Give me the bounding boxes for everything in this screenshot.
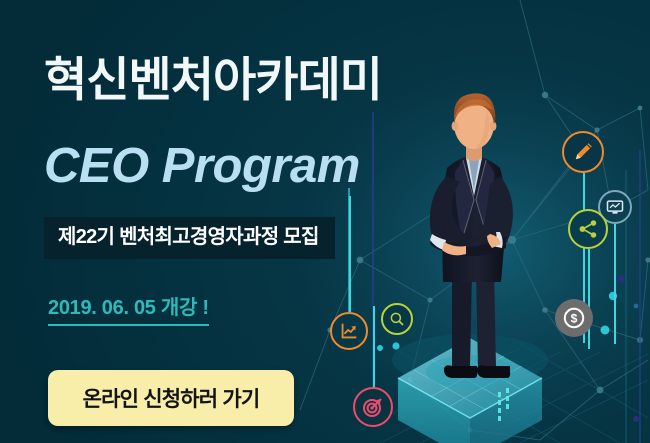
page-title: 혁신벤처아카데미 <box>44 52 382 108</box>
dollar-icon[interactable]: $ <box>555 299 593 337</box>
ribbon-label: 제22기 벤처최고경영자과정 모집 <box>58 226 319 248</box>
apply-online-label: 온라인 신청하러 가기 <box>83 383 260 413</box>
apply-online-button[interactable]: 온라인 신청하러 가기 <box>48 370 294 426</box>
copy-block: 혁신벤처아카데미 CEO Program 제22기 벤처최고경영자과정 모집 2… <box>0 0 400 443</box>
share-icon-stem <box>588 249 590 349</box>
pencil-glyph <box>571 140 595 164</box>
start-date-text: 2019. 06. 05 개강 ! <box>48 294 209 326</box>
svg-text:$: $ <box>571 312 578 326</box>
monitor-glyph <box>605 197 625 217</box>
share-icon[interactable] <box>568 209 608 249</box>
page-subtitle: CEO Program <box>44 137 360 195</box>
ribbon-banner: 제22기 벤처최고경영자과정 모집 <box>44 217 335 259</box>
dollar-glyph: $ <box>562 306 586 330</box>
monitor-icon-stem <box>614 224 616 344</box>
share-glyph <box>577 218 599 240</box>
pencil-icon[interactable] <box>562 131 604 173</box>
promo-banner: $ 혁신벤처아카데미 CEO Program 제22기 벤처최고경영자과정 모집 <box>0 0 650 443</box>
